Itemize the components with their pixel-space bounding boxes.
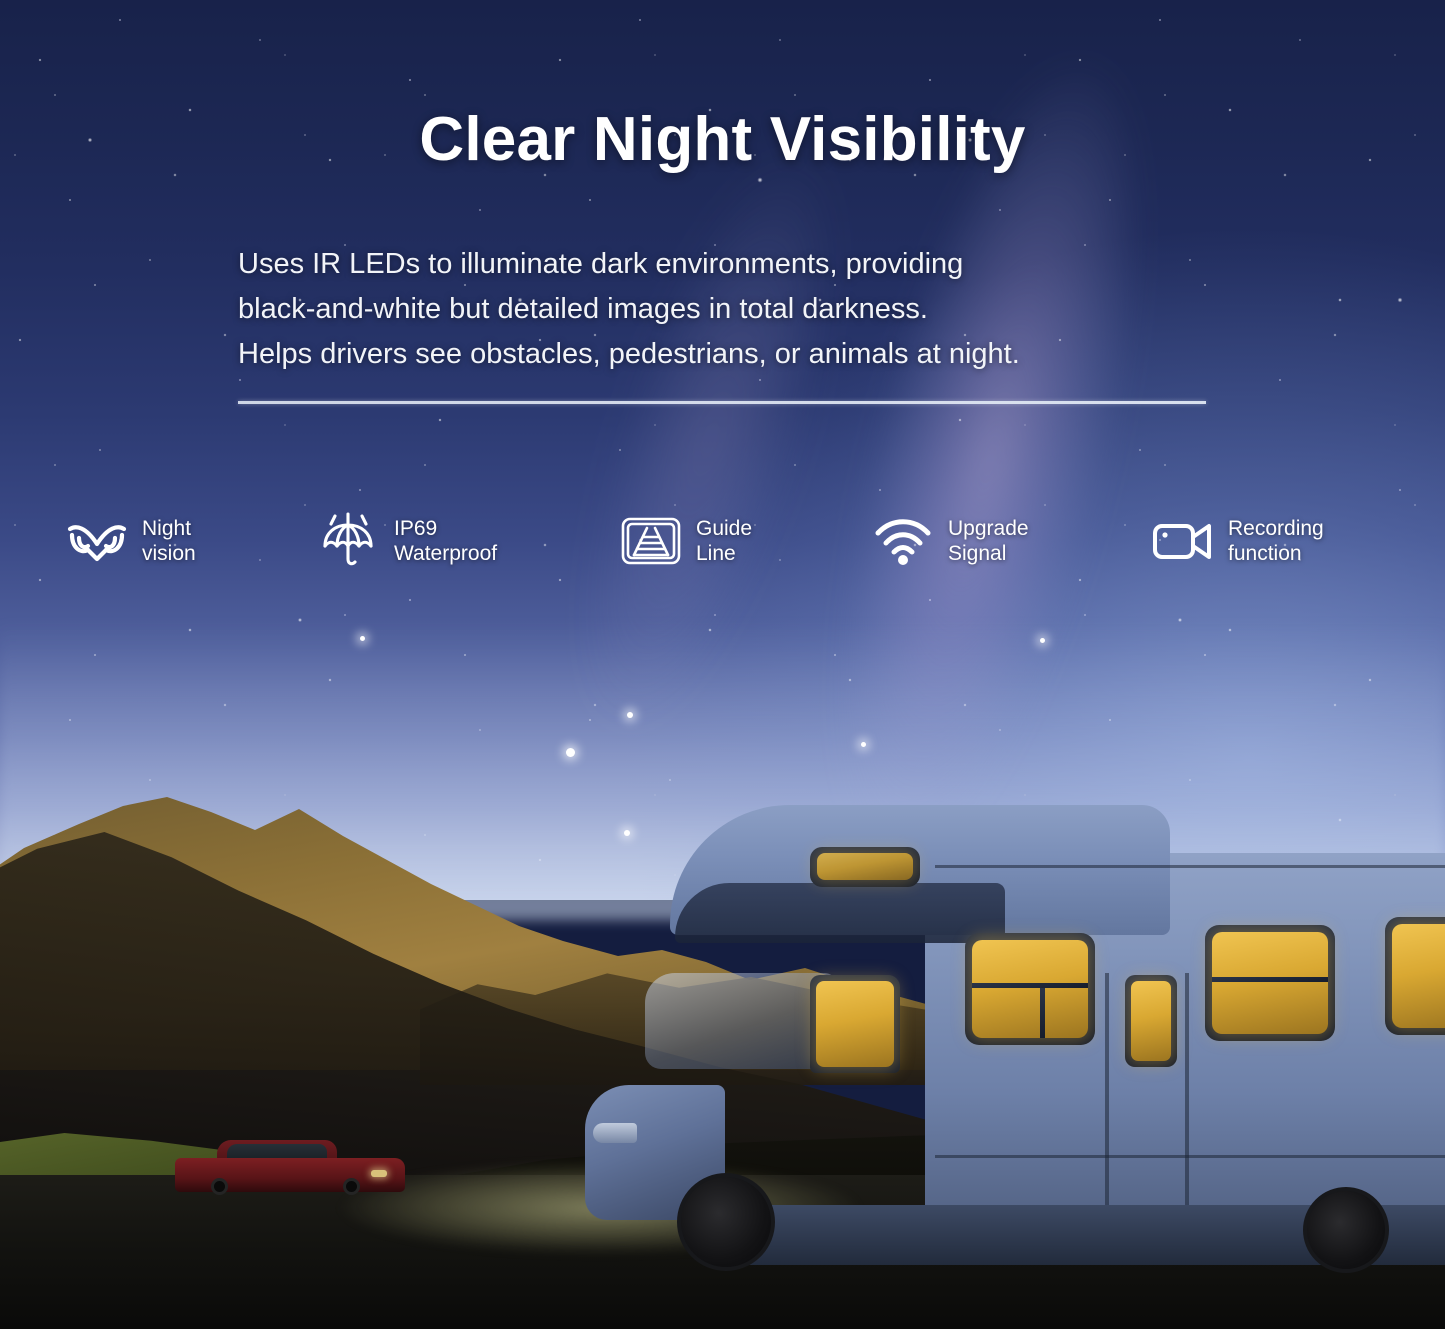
guide-line-screen-icon <box>620 513 682 569</box>
feature-label-line-1: Night <box>142 516 196 541</box>
feature-label-waterproof: IP69 Waterproof <box>394 516 497 566</box>
owl-night-vision-icon <box>66 513 128 569</box>
rv-rear-wheel <box>1303 1187 1389 1273</box>
rv-side-window-3 <box>1392 924 1445 1028</box>
feature-item-upgrade-signal: Upgrade Signal <box>872 500 1029 582</box>
rv-door-seam <box>1105 973 1109 1223</box>
wifi-signal-icon <box>872 513 934 569</box>
section-divider <box>238 401 1206 404</box>
feature-label-line-2: Signal <box>948 541 1029 566</box>
sedan-wheel <box>211 1178 228 1195</box>
rv-window-mullion <box>1212 977 1328 982</box>
feature-label-line-1: IP69 <box>394 516 497 541</box>
rv-headlamp <box>593 1123 637 1143</box>
feature-label-line-2: function <box>1228 541 1324 566</box>
feature-item-waterproof: IP69 Waterproof <box>318 500 497 582</box>
landscape <box>0 0 1445 1329</box>
feature-label-upgrade-signal: Upgrade Signal <box>948 516 1029 566</box>
feature-label-line-2: Waterproof <box>394 541 497 566</box>
video-camera-icon <box>1152 513 1214 569</box>
rv-side-window-1 <box>972 940 1088 1038</box>
description-line-2: black-and-white but detailed images in t… <box>238 287 1248 332</box>
feature-label-line-2: Line <box>696 541 752 566</box>
umbrella-rain-icon <box>318 513 380 569</box>
feature-label-line-1: Upgrade <box>948 516 1029 541</box>
description-line-1: Uses IR LEDs to illuminate dark environm… <box>238 242 1248 287</box>
feature-icon-row: Night vision IP69 <box>0 500 1445 582</box>
feature-label-line-1: Guide <box>696 516 752 541</box>
feature-label-line-2: vision <box>142 541 196 566</box>
rv-door-seam <box>1185 973 1189 1223</box>
sedan-taillight <box>371 1170 387 1177</box>
page-title: Clear Night Visibility <box>0 104 1445 175</box>
feature-label-guide-line: Guide Line <box>696 516 752 566</box>
feature-item-night-vision: Night vision <box>66 500 196 582</box>
product-feature-banner: Clear Night Visibility Uses IR LEDs to i… <box>0 0 1445 1329</box>
rv-cab-door-window <box>816 981 894 1067</box>
rv-door-window <box>1131 981 1171 1061</box>
rv-window-mullion <box>972 983 1088 988</box>
rv-windshield <box>645 973 835 1069</box>
rv-side-window-2 <box>1212 932 1328 1034</box>
feature-label-line-1: Recording <box>1228 516 1324 541</box>
feature-item-guide-line: Guide Line <box>620 500 752 582</box>
rv-body-seam <box>935 1155 1445 1158</box>
description-text: Uses IR LEDs to illuminate dark environm… <box>238 242 1248 377</box>
feature-label-recording: Recording function <box>1228 516 1324 566</box>
rv-overcab-window-glow <box>817 853 913 880</box>
rv-front-wheel <box>677 1173 775 1271</box>
description-line-3: Helps drivers see obstacles, pedestrians… <box>238 332 1248 377</box>
rv-window-mullion <box>1040 988 1045 1038</box>
rv-body-seam <box>935 865 1445 868</box>
feature-label-night-vision: Night vision <box>142 516 196 566</box>
feature-item-recording: Recording function <box>1152 500 1324 582</box>
camper-van-rv <box>585 805 1445 1265</box>
rv-overcab-underside <box>675 883 1005 943</box>
sedan-wheel <box>343 1178 360 1195</box>
parked-red-sedan <box>175 1140 405 1202</box>
